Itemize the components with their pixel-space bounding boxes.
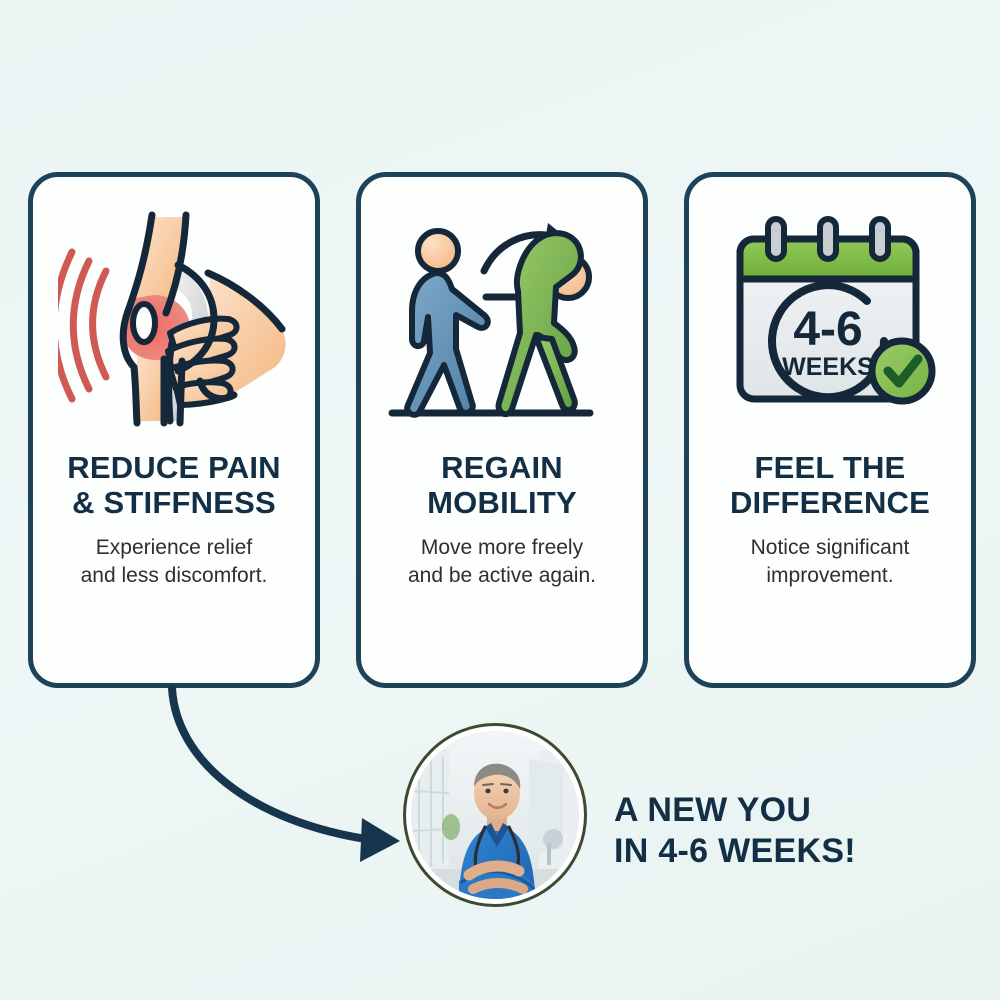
knee-joint-pain-icon [47,203,301,435]
card-title: REGAIN MOBILITY [427,451,577,520]
card-reduce-pain[interactable]: REDUCE PAIN & STIFFNESS Experience relie… [28,172,320,688]
outcome-tagline: A NEW YOU IN 4-6 WEEKS! [614,790,954,873]
calendar-unit: WEEKS [782,353,874,381]
card-subtitle: Notice significant improvement. [751,534,910,589]
calendar-duration: 4-6 [793,303,862,356]
calendar-4-6-weeks-check-icon: 4-6 WEEKS [703,203,957,435]
card-title: REDUCE PAIN & STIFFNESS [67,451,280,520]
doctor-portrait [411,731,579,899]
card-regain-mobility[interactable]: REGAIN MOBILITY Move more freely and be … [356,172,648,688]
card-feel-the-difference[interactable]: 4-6 WEEKS FEEL THE DIFFERENCE Notice sig… [684,172,976,688]
card-subtitle: Move more freely and be active again. [408,534,596,589]
card-subtitle: Experience relief and less discomfort. [81,534,268,589]
infographic-canvas: REDUCE PAIN & STIFFNESS Experience relie… [0,0,1000,1000]
card-title: FEEL THE DIFFERENCE [730,451,930,520]
doctor-portrait-frame [403,723,587,907]
walking-to-stretching-figures-icon [375,203,629,435]
